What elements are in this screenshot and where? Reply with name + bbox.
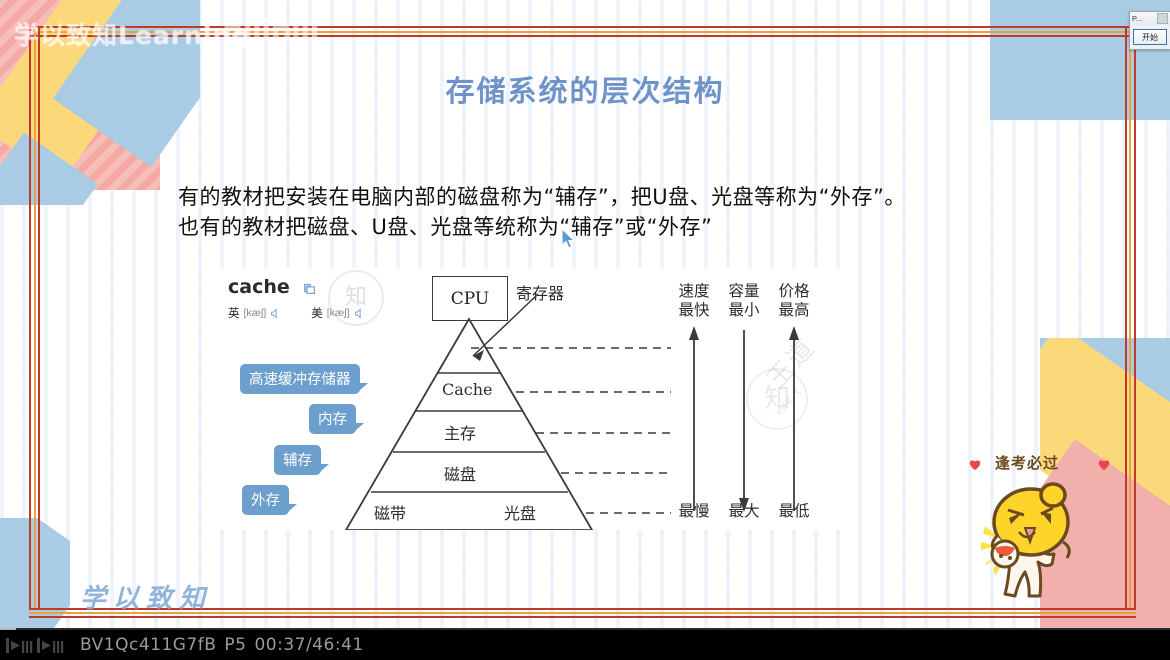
axis-speed-bottom: 最慢 [666,502,722,521]
callout-memory[interactable]: 内存 [309,404,356,434]
top-left-watermark: 学以致知Learning [14,16,250,52]
slide-paragraph: 有的教材把安装在电脑内部的磁盘称为“辅存”，把U盘、光盘等称为“外存”。 也有的… [178,182,1008,242]
axis-capacity: 容量 最小 [716,282,772,320]
video-part: P5 [224,635,246,655]
player-bar: BV1Qc411G7fB P5 00:37/46:41 [0,630,1170,660]
mouse-cursor [561,228,577,250]
mini-dialog-titlebar: P... [1130,12,1170,25]
mini-dialog-title: P... [1132,14,1142,23]
axis-price-bottom: 最低 [766,502,822,521]
callout-external[interactable]: 外存 [242,485,289,515]
axis-price: 价格 最高 [766,282,822,320]
level-label-tape: 磁带 [374,500,406,524]
axis-capacity-label: 容量 [716,282,772,301]
axis-capacity-bottom: 最大 [716,502,772,521]
calligraphy-watermark: 学以致知 [80,578,212,615]
axis-capacity-top: 最小 [716,301,772,320]
video-id: BV1Qc411G7fB [80,635,216,655]
callout-secondary[interactable]: 辅存 [274,445,321,475]
video-player-stage: 存储系统的层次结构 有的教材把安装在电脑内部的磁盘称为“辅存”，把U盘、光盘等称… [0,0,1170,660]
top-left-bilibili-watermark: bilibili [222,14,319,49]
mascot-icon [975,470,1090,605]
heart-icon-left [968,458,981,470]
level-label-cache: Cache [442,380,493,399]
slide-title: 存储系统的层次结构 [0,68,1170,110]
paragraph-line-2: 也有的教材把磁盘、U盘、光盘等统称为“辅存”或“外存” [178,212,1008,242]
callout-cache[interactable]: 高速缓冲存储器 [240,364,360,394]
paragraph-line-1: 有的教材把安装在电脑内部的磁盘称为“辅存”，把U盘、光盘等称为“外存”。 [178,182,1008,212]
axis-price-label: 价格 [766,282,822,301]
level-label-main: 主存 [444,420,476,444]
heart-icon-right [1097,458,1110,470]
close-icon[interactable] [1157,13,1168,24]
bilibili-logo [6,637,72,654]
axis-price-top: 最高 [766,301,822,320]
start-button[interactable]: 开始 [1133,29,1167,45]
memory-hierarchy-diagram: cache 英 [kæʃ] 美 [kæʃ] [216,268,856,530]
axis-speed: 速度 最快 [666,282,722,320]
axis-speed-label: 速度 [666,282,722,301]
level-label-disk: 磁盘 [444,461,476,485]
axis-speed-top: 最快 [666,301,722,320]
video-time: 00:37/46:41 [254,635,363,655]
corner-decoration-bottom-left [0,518,70,638]
level-label-optical: 光盘 [504,500,536,524]
mini-dialog[interactable]: P... 开始 [1129,11,1170,50]
